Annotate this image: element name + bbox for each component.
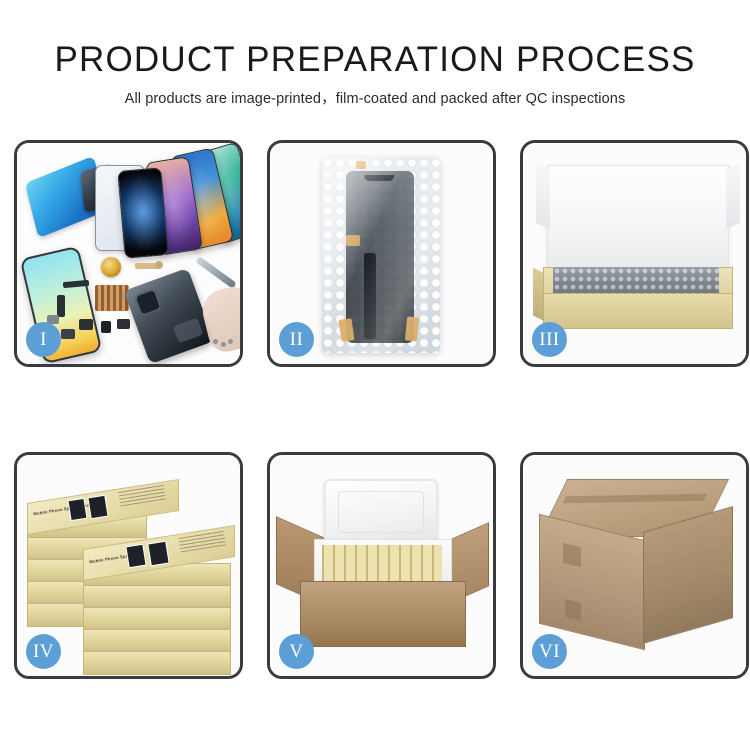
screen-assembly-icon bbox=[346, 171, 414, 343]
step-panel-4: Mobile Phone Spare Parts Mobile Phone Sp… bbox=[14, 452, 243, 679]
product-preparation-infographic: PRODUCT PREPARATION PROCESS All products… bbox=[0, 0, 750, 750]
page-subtitle: All products are image-printed，film-coat… bbox=[0, 87, 750, 108]
step-badge-2: II bbox=[279, 322, 314, 357]
component-icon bbox=[79, 319, 93, 330]
bubble-wrap-bag-icon bbox=[322, 157, 440, 353]
box-layer bbox=[83, 629, 231, 653]
steps-grid: I II bbox=[14, 140, 748, 680]
carton-handle-tab-icon bbox=[565, 599, 581, 621]
foam-cooler-lid-icon bbox=[324, 479, 438, 547]
box-window bbox=[147, 541, 169, 567]
step-panel-2: II bbox=[267, 140, 496, 367]
box-lid-icon bbox=[547, 165, 729, 271]
tape-icon bbox=[346, 235, 360, 246]
tape-icon bbox=[405, 316, 419, 341]
step-panel-6: VI bbox=[520, 452, 749, 679]
component-icon bbox=[101, 321, 111, 333]
flex-cable-icon bbox=[364, 253, 376, 339]
carton-right-face-icon bbox=[643, 506, 733, 644]
box-front-icon bbox=[543, 293, 733, 329]
step-panel-5: V bbox=[267, 452, 496, 679]
step-badge-4: IV bbox=[26, 634, 61, 669]
flex-cable-icon bbox=[57, 295, 65, 317]
chip-grid-icon bbox=[95, 285, 129, 311]
header: PRODUCT PREPARATION PROCESS All products… bbox=[0, 40, 750, 108]
box-layer bbox=[83, 585, 231, 609]
carton-handle-tab-icon bbox=[563, 543, 581, 567]
inner-boxes-icon bbox=[322, 545, 442, 583]
box-window bbox=[87, 495, 108, 520]
tape-icon bbox=[356, 161, 366, 169]
carton-body-icon bbox=[300, 581, 466, 647]
component-icon bbox=[117, 319, 130, 329]
phone-blue-icon bbox=[117, 167, 169, 259]
step-panel-3: III bbox=[520, 140, 749, 367]
step-panel-1: I bbox=[14, 140, 243, 367]
step-badge-5: V bbox=[279, 634, 314, 669]
screws-icon bbox=[213, 339, 233, 347]
box-window bbox=[125, 544, 146, 569]
box-layer bbox=[83, 651, 231, 675]
screw-icon bbox=[155, 261, 163, 269]
step-badge-3: III bbox=[532, 322, 567, 357]
step-badge-1: I bbox=[26, 322, 61, 357]
page-title: PRODUCT PREPARATION PROCESS bbox=[0, 40, 750, 80]
component-icon bbox=[61, 329, 75, 339]
box-layer bbox=[83, 607, 231, 631]
step-badge-6: VI bbox=[532, 634, 567, 669]
speaker-coil-icon bbox=[101, 257, 121, 277]
box-window bbox=[67, 498, 87, 521]
